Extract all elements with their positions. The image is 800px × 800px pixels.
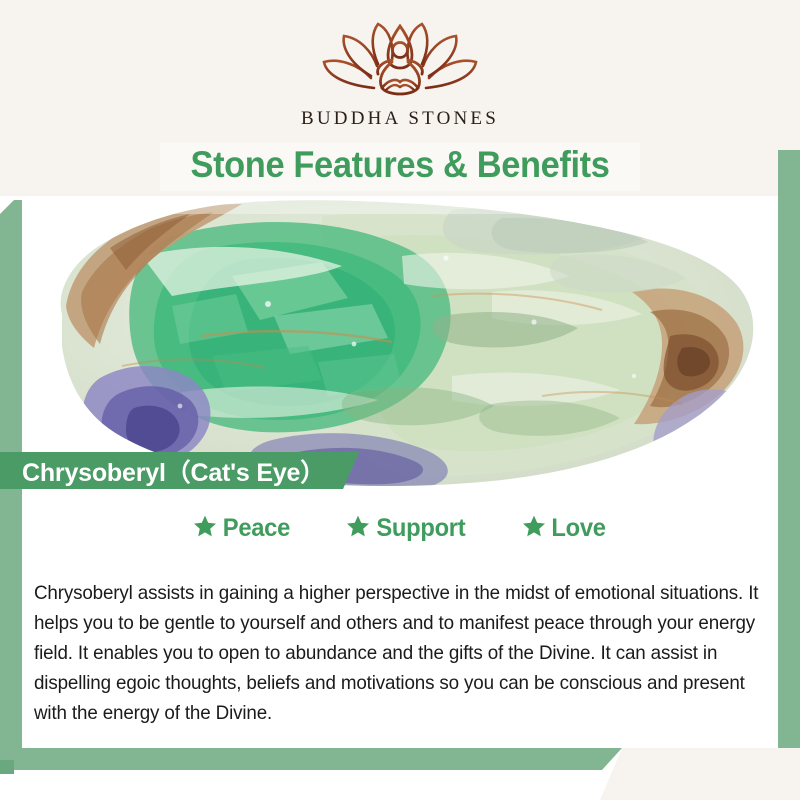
star-icon [193, 514, 217, 543]
benefit-item-support: Support [346, 514, 468, 543]
star-icon [346, 514, 370, 543]
stone-photo [22, 196, 778, 492]
stone-name-label: Chrysoberyl（Cat's Eye） [22, 453, 325, 489]
benefit-item-peace: Peace [193, 514, 292, 543]
stone-name-banner: Chrysoberyl（Cat's Eye） [0, 452, 359, 489]
brand-wordmark: BUDDHA STONES [0, 108, 800, 130]
frame-border-right [778, 150, 800, 750]
benefit-label-love: Love [551, 514, 605, 543]
stone-info-card: BUDDHA STONES Stone Features & Benefits [0, 0, 800, 800]
benefit-label-peace: Peace [223, 514, 290, 543]
benefits-row: Peace Support Love [22, 514, 778, 543]
lotus-meditation-icon [0, 18, 800, 106]
page-title: Stone Features & Benefits [28, 144, 772, 186]
star-icon [522, 514, 546, 543]
benefit-label-support: Support [376, 514, 465, 543]
stone-description: Chrysoberyl assists in gaining a higher … [34, 579, 759, 729]
frame-border-bottom [0, 748, 622, 770]
frame-corner-cream [600, 748, 800, 800]
benefit-item-love: Love [522, 514, 607, 543]
frame-corner-accent [0, 760, 14, 774]
brand-lockup: BUDDHA STONES [0, 18, 800, 130]
